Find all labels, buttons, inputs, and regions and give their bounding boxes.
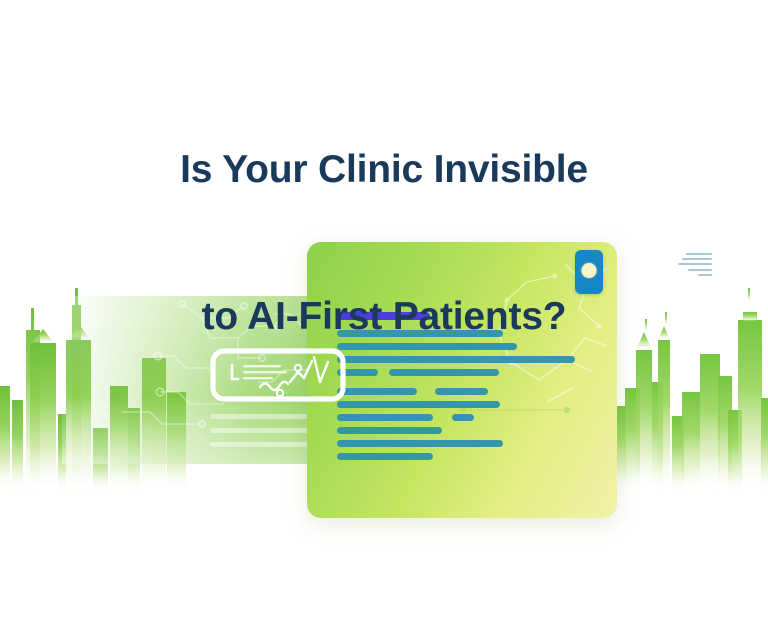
card-text-bar: [337, 440, 503, 447]
card-text-bar: [337, 453, 433, 460]
page-title-line-2: to AI-First Patients?: [0, 293, 768, 340]
page-title: Is Your Clinic Invisible to AI-First Pat…: [0, 52, 768, 434]
illustration-stage: Is Your Clinic Invisible to AI-First Pat…: [0, 0, 768, 644]
page-title-line-1: Is Your Clinic Invisible: [0, 146, 768, 193]
